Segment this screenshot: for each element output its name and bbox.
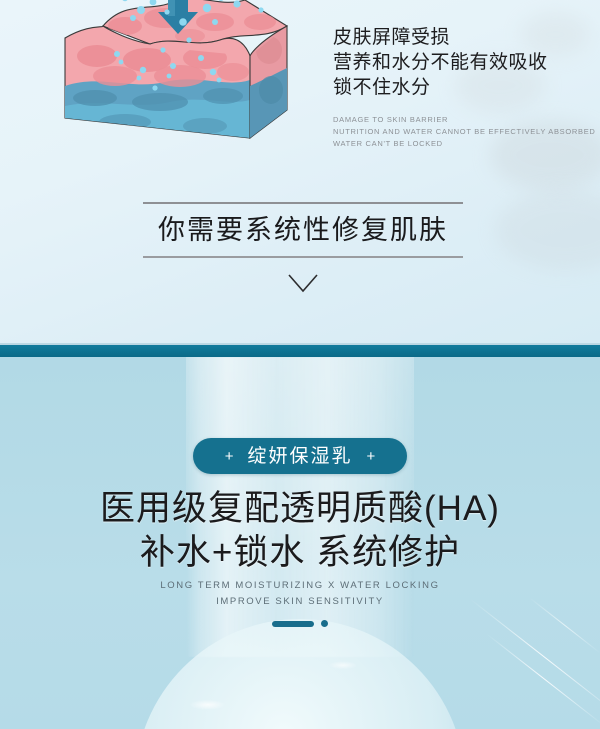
pagination-dot[interactable]: [321, 620, 328, 627]
light-streak: [486, 633, 600, 726]
chevron-down-icon: [143, 272, 463, 294]
product-subtitle-line-2: IMPROVE SKIN SENSITIVITY: [0, 594, 600, 610]
problem-en-line-3: WATER CAN'T BE LOCKED: [333, 138, 583, 150]
product-name-label: 绽妍保湿乳: [247, 447, 352, 466]
light-streak: [470, 599, 600, 717]
section-divider-band: [0, 345, 600, 357]
water-dome-texture: [135, 619, 465, 729]
pagination-active-bar[interactable]: [272, 621, 314, 627]
divider-line-bottom: [143, 256, 463, 258]
problem-headline-line-3: 锁不住水分: [333, 75, 583, 100]
product-subtitle-line-1: LONG TERM MOISTURIZING X WATER LOCKING: [0, 578, 600, 594]
product-name-badge[interactable]: + 绽妍保湿乳 +: [193, 438, 407, 474]
product-headline-line-1: 医用级复配透明质酸(HA): [0, 487, 600, 531]
plus-icon-right: +: [367, 449, 376, 464]
problem-section: 皮肤屏障受损 营养和水分不能有效吸收 锁不住水分 DAMAGE TO SKIN …: [0, 0, 600, 345]
problem-headline-line-2: 营养和水分不能有效吸收: [333, 50, 583, 75]
background-smudge: [495, 190, 600, 270]
product-headline-line-2: 补水+锁水 系统修护: [0, 531, 600, 575]
problem-headline-line-1: 皮肤屏障受损: [333, 25, 583, 50]
product-headline: 医用级复配透明质酸(HA) 补水+锁水 系统修护: [0, 487, 600, 575]
problem-en-line-1: DAMAGE TO SKIN BARRIER: [333, 114, 583, 126]
plus-icon-left: +: [225, 449, 234, 464]
transition-heading: 你需要系统性修复肌肤: [143, 202, 463, 258]
problem-subcopy-en: DAMAGE TO SKIN BARRIER NUTRITION AND WAT…: [333, 114, 583, 150]
transition-heading-text: 你需要系统性修复肌肤: [143, 204, 463, 256]
product-subtitle-en: LONG TERM MOISTURIZING X WATER LOCKING I…: [0, 578, 600, 610]
problem-copy: 皮肤屏障受损 营养和水分不能有效吸收 锁不住水分 DAMAGE TO SKIN …: [333, 25, 583, 150]
carousel-pagination[interactable]: [0, 620, 600, 627]
problem-en-line-2: NUTRITION AND WATER CANNOT BE EFFECTIVEL…: [333, 126, 583, 138]
product-detail-page: 皮肤屏障受损 营养和水分不能有效吸收 锁不住水分 DAMAGE TO SKIN …: [0, 0, 600, 729]
skin-cross-section-diagram: [55, 0, 305, 148]
